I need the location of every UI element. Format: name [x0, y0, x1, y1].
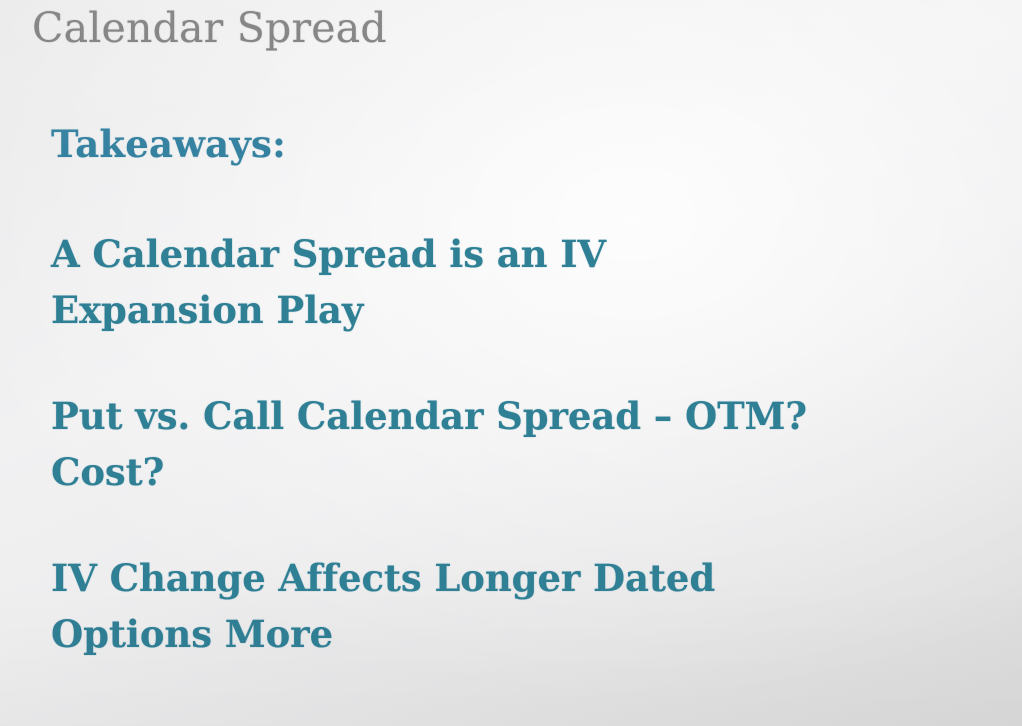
takeaway-item-1: A Calendar Spread is an IV Expansion Pla…	[51, 226, 951, 338]
page-title: Calendar Spread	[32, 4, 387, 52]
takeaways-block: Takeaways: A Calendar Spread is an IV Ex…	[51, 118, 951, 662]
takeaways-heading: Takeaways:	[51, 118, 951, 170]
spacer	[51, 170, 951, 226]
spacer	[51, 338, 951, 388]
takeaway-item-3: IV Change Affects Longer Dated Options M…	[51, 550, 951, 662]
spacer	[51, 500, 951, 550]
presentation-slide: Calendar Spread Takeaways: A Calendar Sp…	[0, 0, 1022, 726]
takeaway-item-2: Put vs. Call Calendar Spread – OTM? Cost…	[51, 388, 951, 500]
